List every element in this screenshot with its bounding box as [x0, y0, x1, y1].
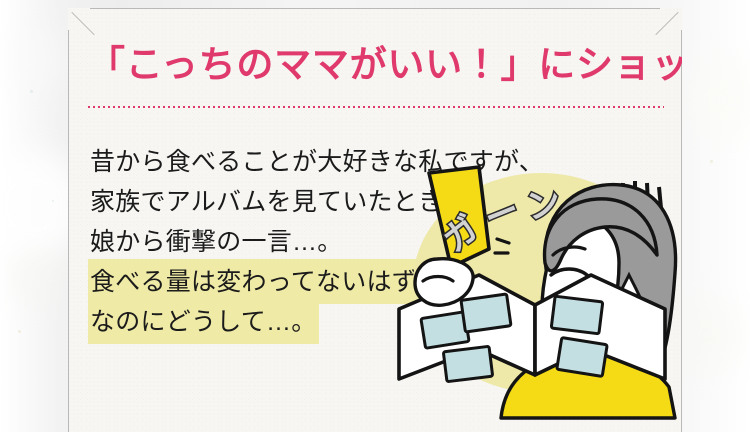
background-speck	[710, 160, 713, 163]
bokeh-circle	[8, 30, 68, 90]
page-root: 「こっちのママがいい！」にショック 昔から食べることが大好きな私ですが、 家族で…	[0, 0, 750, 432]
background-speck	[18, 330, 21, 333]
corner-cut-top-right-icon	[655, 12, 678, 35]
card-border-top	[90, 8, 660, 9]
corner-cut-top-left-icon	[71, 12, 94, 35]
illustration-shocked-woman	[393, 163, 682, 418]
background-speck	[30, 90, 33, 93]
article-card: 「こっちのママがいい！」にショック 昔から食べることが大好きな私ですが、 家族で…	[68, 8, 682, 432]
bokeh-circle	[672, 300, 742, 370]
card-border-left	[68, 30, 69, 432]
bokeh-circle	[12, 250, 66, 304]
body-line-text: なのにどうして…。	[88, 299, 319, 344]
divider-dotted-rule	[88, 106, 664, 108]
body-line-text: 食べる量は変わってないはず	[88, 259, 419, 304]
background-speck	[52, 200, 54, 202]
body-line-text: 娘から衝撃の一言…。	[88, 219, 345, 264]
page-title: 「こっちのママがいい！」にショック	[88, 44, 682, 87]
